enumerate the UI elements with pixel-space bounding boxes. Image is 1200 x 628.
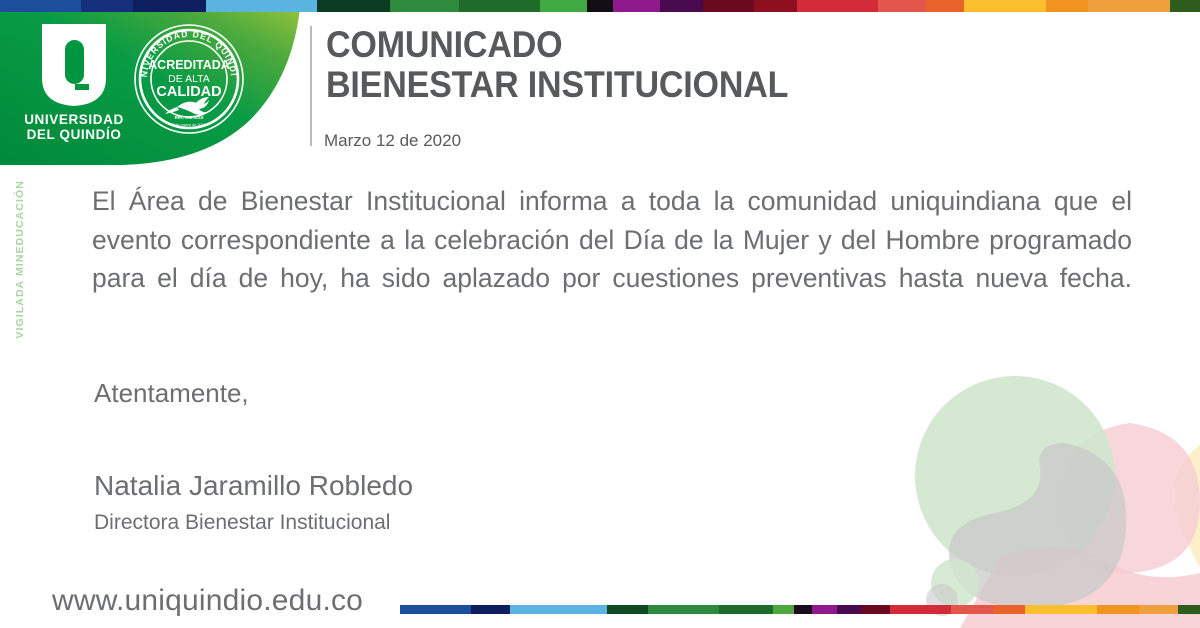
uq-shield-icon <box>40 22 108 108</box>
website-url[interactable]: www.uniquindio.edu.co <box>52 584 363 618</box>
stripe-segment <box>773 605 794 614</box>
stripe-segment <box>1170 0 1200 12</box>
body-paragraph-container: El Área de Bienestar Institucional infor… <box>92 182 1132 337</box>
stripe-segment <box>878 0 925 12</box>
title-line-bienestar: BIENESTAR INSTITUCIONAL <box>326 66 788 103</box>
stripe-segment <box>510 605 606 614</box>
stripe-segment <box>926 0 965 12</box>
stripe-segment <box>993 605 1025 614</box>
stripe-segment <box>794 605 812 614</box>
stripe-segment <box>613 0 660 12</box>
stripe-segment <box>964 0 1045 12</box>
signer-role: Directora Bienestar Institucional <box>94 511 390 535</box>
stripe-segment <box>206 0 317 12</box>
stripe-segment <box>837 605 862 614</box>
svg-text:ACREDITADA: ACREDITADA <box>148 58 230 72</box>
document-date: Marzo 12 de 2020 <box>324 131 461 151</box>
stripe-segment <box>540 0 587 12</box>
stripe-segment <box>133 0 206 12</box>
bottom-color-stripe <box>400 605 1200 614</box>
stripe-segment <box>862 605 890 614</box>
stripe-segment <box>81 0 132 12</box>
stripe-segment <box>317 0 390 12</box>
stripe-segment <box>754 0 797 12</box>
accreditation-seal-icon: UNIVERSIDAD DEL QUINDÍO ACREDITADA DE AL… <box>133 23 245 135</box>
signer-name: Natalia Jaramillo Robledo <box>94 470 413 502</box>
stripe-segment <box>719 605 772 614</box>
stripe-segment <box>1097 605 1140 614</box>
stripe-segment <box>648 605 719 614</box>
title-line-comunicado: COMUNICADO <box>326 26 788 63</box>
stripe-segment <box>0 0 81 12</box>
body-paragraph: El Área de Bienestar Institucional infor… <box>92 182 1132 337</box>
closing-line: Atentamente, <box>94 378 249 409</box>
stripe-segment <box>400 605 471 614</box>
logo-wordmark: UNIVERSIDAD DEL QUINDÍO <box>24 112 124 142</box>
stripe-segment <box>459 0 540 12</box>
stripe-segment <box>1139 605 1178 614</box>
stripe-segment <box>1178 605 1199 614</box>
comunicado-page: UNIVERSIDAD DEL QUINDÍO UNIVERSIDAD DEL … <box>0 0 1200 628</box>
stripe-segment <box>797 0 878 12</box>
svg-text:Res. 008 2015: Res. 008 2015 <box>175 115 204 120</box>
stripe-segment <box>812 605 837 614</box>
svg-text:CALIDAD: CALIDAD <box>156 84 221 100</box>
vigilada-mineducacion-label: VIGILADA MINEDUCACIÓN <box>14 180 26 339</box>
stripe-segment <box>951 605 994 614</box>
stripe-segment <box>703 0 754 12</box>
stripe-segment <box>587 0 613 12</box>
stripe-segment <box>890 605 951 614</box>
stripe-segment <box>607 605 648 614</box>
svg-text:7 de marzo de 2015: 7 de marzo de 2015 <box>172 123 206 127</box>
stripe-segment <box>1088 0 1169 12</box>
stripe-segment <box>471 605 510 614</box>
top-color-stripe <box>0 0 1200 12</box>
university-logo: UNIVERSIDAD DEL QUINDÍO <box>24 22 124 142</box>
decorative-blobs <box>880 368 1200 628</box>
stripe-segment <box>1046 0 1089 12</box>
stripe-segment <box>1025 605 1096 614</box>
document-title: COMUNICADO BIENESTAR INSTITUCIONAL <box>310 26 828 146</box>
stripe-segment <box>390 0 459 12</box>
stripe-segment <box>660 0 703 12</box>
